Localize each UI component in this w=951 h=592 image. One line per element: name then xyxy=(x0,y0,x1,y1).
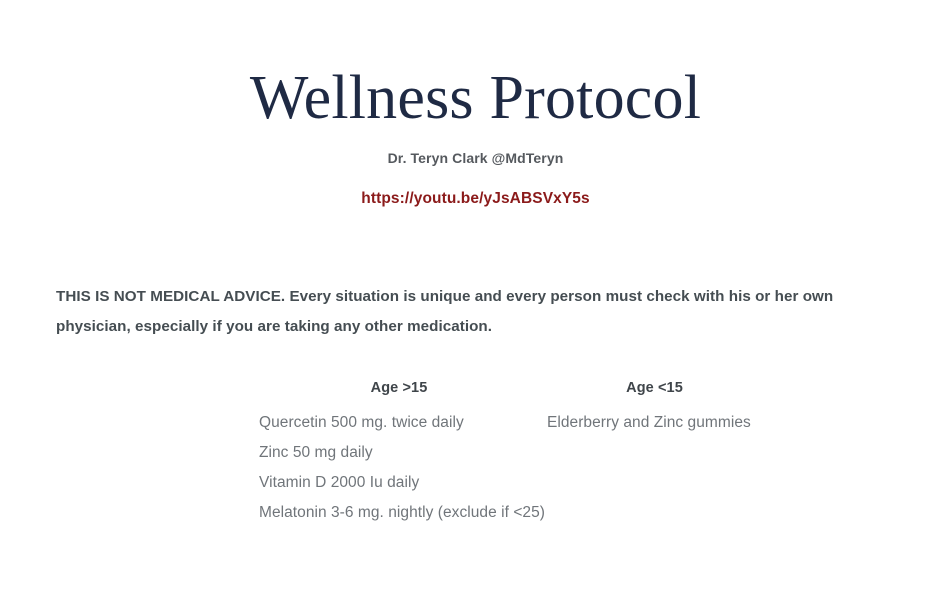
item-list-age-over-15: Quercetin 500 mg. twice daily Zinc 50 mg… xyxy=(259,408,539,528)
document-page: Wellness Protocol Dr. Teryn Clark @MdTer… xyxy=(0,0,951,592)
author-byline: Dr. Teryn Clark @MdTeryn xyxy=(0,149,951,168)
medical-disclaimer: THIS IS NOT MEDICAL ADVICE. Every situat… xyxy=(56,282,901,342)
protocol-column-age-over-15: Age >15 Quercetin 500 mg. twice daily Zi… xyxy=(259,378,539,528)
video-link[interactable]: https://youtu.be/yJsABSVxY5s xyxy=(0,188,951,209)
list-item: Quercetin 500 mg. twice daily xyxy=(259,408,539,438)
list-item: Vitamin D 2000 Iu daily xyxy=(259,468,539,498)
column-header-age-over-15: Age >15 xyxy=(259,378,539,398)
item-list-age-under-15: Elderberry and Zinc gummies xyxy=(547,408,762,438)
column-header-age-under-15: Age <15 xyxy=(547,378,762,398)
list-item: Zinc 50 mg daily xyxy=(259,438,539,468)
list-item: Melatonin 3-6 mg. nightly (exclude if <2… xyxy=(259,498,539,528)
protocol-columns: Age >15 Quercetin 500 mg. twice daily Zi… xyxy=(0,378,951,528)
protocol-column-age-under-15: Age <15 Elderberry and Zinc gummies xyxy=(547,378,762,438)
page-title: Wellness Protocol xyxy=(0,64,951,132)
list-item: Elderberry and Zinc gummies xyxy=(547,408,762,438)
